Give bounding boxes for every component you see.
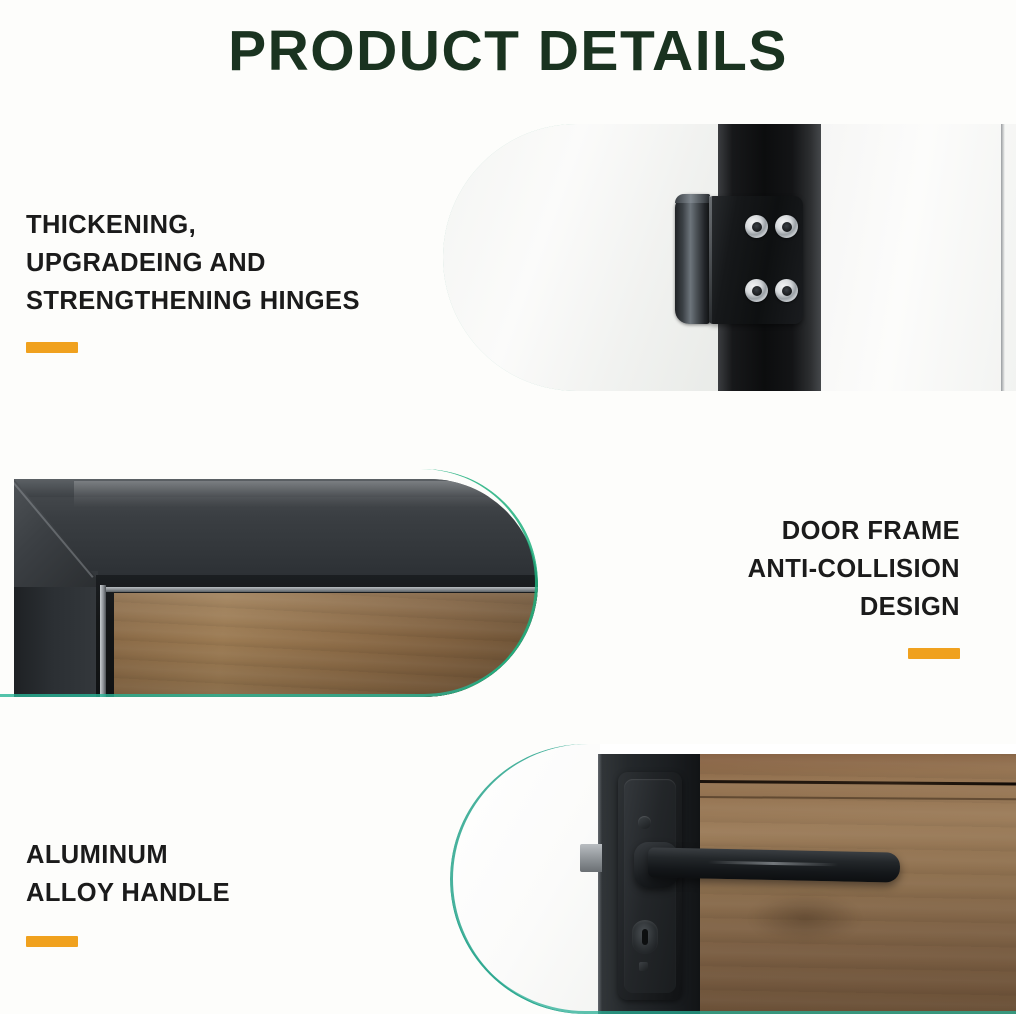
hinge-screw-icon	[775, 279, 798, 302]
hinge-barrel-cap	[675, 194, 710, 203]
latch-bolt-icon	[580, 844, 602, 872]
handle-lever-highlight	[708, 861, 838, 867]
door-frame-silver-trim-horizontal	[106, 587, 538, 592]
handle-lever-icon	[648, 847, 901, 882]
feature-line: DOOR FRAME	[748, 512, 960, 550]
door-frame-top-sheen	[74, 481, 518, 507]
hinge-screw-icon	[745, 279, 768, 302]
feature-line: ALLOY HANDLE	[26, 874, 230, 912]
handle-plate-mark-icon	[639, 962, 648, 971]
feature-line: DESIGN	[748, 588, 960, 626]
door-hinge-photo	[443, 124, 1016, 391]
door-frame-corner-photo	[0, 469, 538, 697]
handle-cast-shadow	[750, 894, 860, 942]
door-frame-body	[14, 479, 538, 697]
door-frame-left-wall	[14, 571, 98, 697]
hinge-leaf-edge	[709, 196, 712, 324]
feature-line: ALUMINUM	[26, 836, 230, 874]
door-wood-sheen	[114, 593, 538, 697]
handle-plate-button-icon	[638, 816, 651, 829]
handle-door-stile-highlight	[598, 754, 602, 1014]
hinge-door-right-leaf	[821, 124, 1016, 391]
feature-line: THICKENING,	[26, 206, 360, 244]
feature-text-handle: ALUMINUM ALLOY HANDLE	[26, 836, 230, 947]
accent-bar	[26, 936, 78, 947]
feature-text-anti-collision: DOOR FRAME ANTI-COLLISION DESIGN	[748, 512, 960, 659]
accent-bar	[26, 342, 78, 353]
door-frame-silver-trim-vertical	[100, 585, 106, 697]
feature-text-hinges: THICKENING, UPGRADEING AND STRENGTHENING…	[26, 206, 360, 353]
hinge-leaf-plate	[709, 196, 803, 324]
hinge-screw-icon	[745, 215, 768, 238]
feature-line: ANTI-COLLISION	[748, 550, 960, 588]
door-wood-panel	[114, 593, 538, 697]
hinge-strip-highlight-left	[1001, 124, 1005, 391]
page-title: PRODUCT DETAILS	[0, 22, 1016, 82]
handle-wood-sheen	[698, 754, 1016, 1014]
feature-line: STRENGTHENING HINGES	[26, 282, 360, 320]
keyhole-icon	[632, 920, 658, 954]
hinge-screw-icon	[775, 215, 798, 238]
door-handle-photo	[450, 744, 1016, 1014]
feature-line: UPGRADEING AND	[26, 244, 360, 282]
handle-photo-backdrop	[450, 744, 600, 1014]
product-details-infographic: PRODUCT DETAILS	[0, 0, 1016, 1014]
accent-bar	[908, 648, 960, 659]
hinge-barrel-icon	[675, 194, 710, 324]
